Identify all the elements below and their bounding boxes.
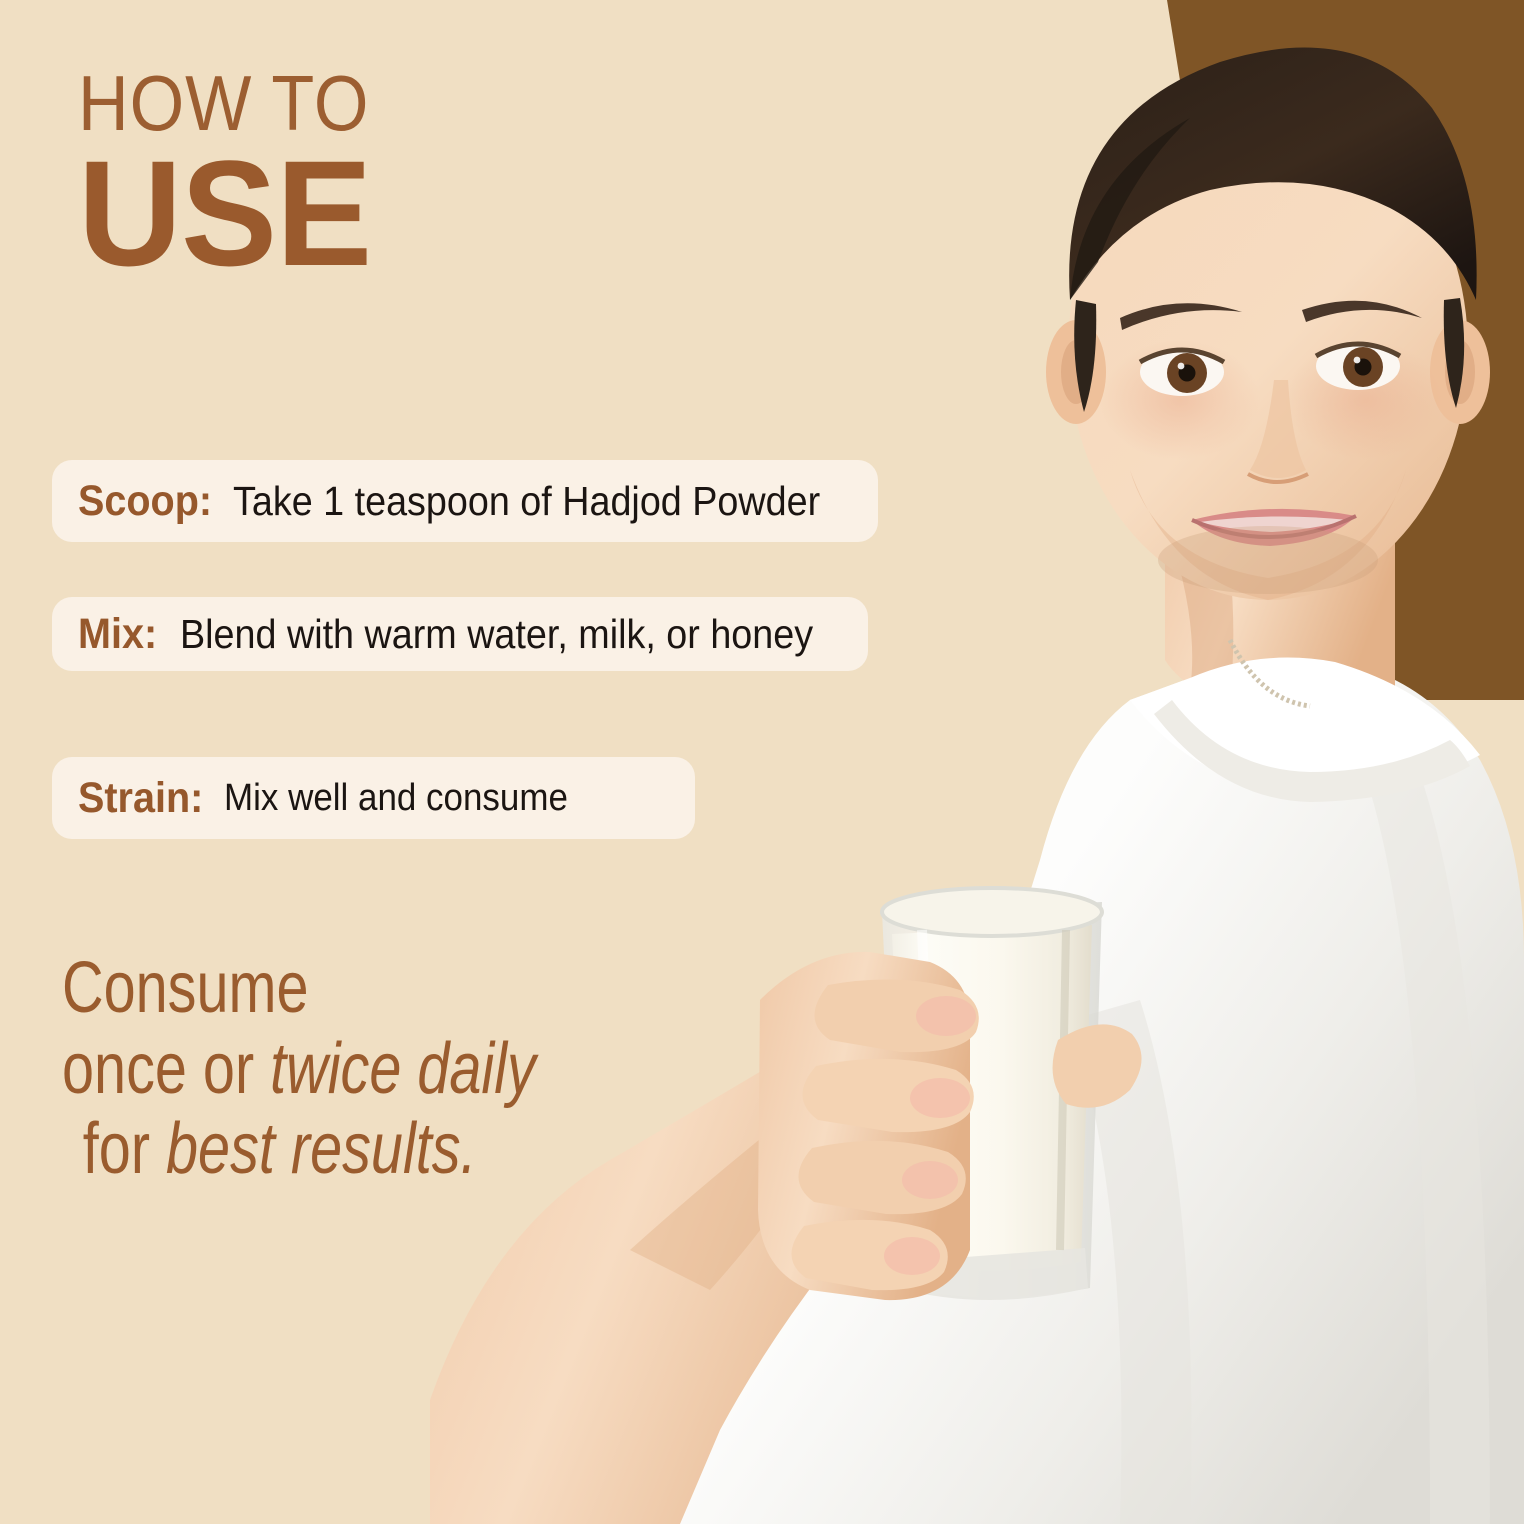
instruction-value-scoop: Take 1 teaspoon of Hadjod Powder (233, 478, 820, 525)
consume-line-3-plain: for (83, 1109, 166, 1189)
instruction-key-strain: Strain: (78, 774, 203, 823)
page-title: HOW TO USE (78, 68, 402, 282)
consume-line-2: once or twice daily (62, 1029, 536, 1110)
instruction-key-mix: Mix: (78, 610, 157, 659)
consume-line-2-italic: twice daily (270, 1029, 536, 1109)
consume-line-1: Consume (62, 948, 536, 1029)
title-line-use: USE (78, 144, 389, 282)
consume-line-2-plain: once or (62, 1029, 270, 1109)
consume-instruction-block: Consume once or twice daily for best res… (62, 948, 654, 1190)
instruction-pill-strain: Strain: Mix well and consume (52, 757, 695, 839)
how-to-use-poster: HOW TO USE Scoop: Take 1 teaspoon of Had… (0, 0, 1524, 1524)
instruction-value-mix: Blend with warm water, milk, or honey (180, 611, 813, 658)
instruction-key-scoop: Scoop: (78, 477, 212, 526)
instruction-value-strain: Mix well and consume (224, 777, 568, 820)
instruction-pill-mix: Mix: Blend with warm water, milk, or hon… (52, 597, 868, 671)
instruction-pill-scoop: Scoop: Take 1 teaspoon of Hadjod Powder (52, 460, 878, 542)
consume-line-3: for best results. (62, 1109, 536, 1190)
consume-line-3-italic: best results. (166, 1109, 477, 1189)
